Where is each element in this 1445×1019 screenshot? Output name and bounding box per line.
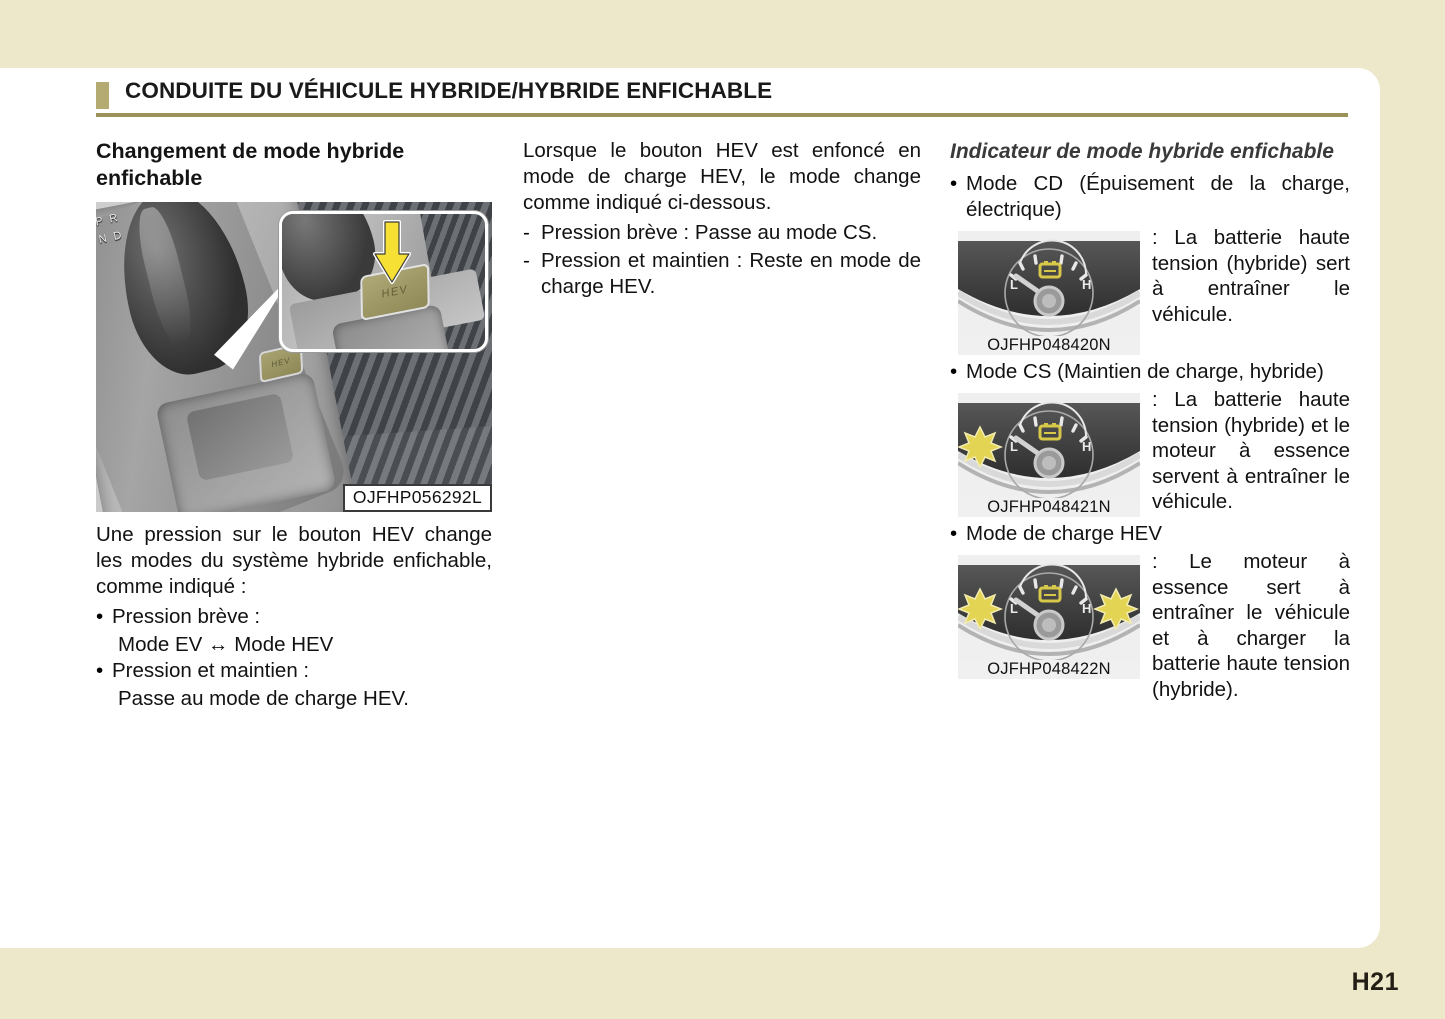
header-divider (96, 113, 1348, 117)
bullet-dot-icon: • (950, 171, 966, 197)
middle-item-2: - Pression et maintien : Reste en mode d… (523, 248, 921, 300)
hybrid-gauge-icon: L H (958, 555, 1140, 663)
mode-cs-label: Mode CS (Maintien de charge, hybride) (966, 359, 1350, 385)
mode-cd-label-row: • Mode CD (Épuisement de la charge, élec… (950, 171, 1350, 223)
svg-text:H: H (1082, 277, 1091, 292)
left-bullet-1-label: Pression brève : (112, 604, 492, 630)
mode-hev-label: Mode de charge HEV (966, 521, 1350, 547)
page-title: CONDUITE DU VÉHICULE HYBRIDE/HYBRIDE ENF… (125, 78, 772, 104)
gauge-figure-cd: L H OJFHP048420N (958, 231, 1140, 355)
burst-indicator-left (959, 589, 1001, 629)
left-section-heading: Changement de mode hybride enfichable (96, 138, 492, 192)
left-bullet-2-detail: Passe au mode de charge HEV. (118, 686, 492, 712)
figure-caption: OJFHP056292L (343, 484, 492, 512)
mode-block-cd: • Mode CD (Épuisement de la charge, élec… (950, 171, 1350, 357)
hybrid-gauge-icon: L H (958, 231, 1140, 339)
left-bullet-1-detail: Mode EV ↔ Mode HEV (118, 632, 492, 658)
bullet-dot-icon: • (950, 359, 966, 385)
right-column: Indicateur de mode hybride enfichable • … (950, 138, 1350, 704)
mode-block-cs: • Mode CS (Maintien de charge, hybride) (950, 359, 1350, 519)
gauge-figure-hev: L H (958, 555, 1140, 679)
left-intro-text: Une pression sur le bouton HEV change le… (96, 522, 492, 600)
middle-column: Lorsque le bouton HEV est enfoncé en mod… (523, 138, 921, 302)
burst-indicator-right (1095, 589, 1137, 629)
mode-block-hev-charge: • Mode de charge HEV (950, 521, 1350, 702)
gauge-figure-cs: L H OJFHP048421N (958, 393, 1140, 517)
dash-bullet-icon: - (523, 220, 541, 246)
bullet-dot-icon: • (950, 521, 966, 547)
gauge-caption-cs: OJFHP048421N (958, 498, 1140, 517)
left-column: Changement de mode hybride enfichable P … (96, 138, 492, 712)
middle-item-1: - Pression brève : Passe au mode CS. (523, 220, 921, 246)
bullet-dot-icon: • (96, 604, 112, 630)
svg-text:H: H (1082, 601, 1091, 616)
hybrid-gauge-icon: L H (958, 393, 1140, 501)
left-bullet-2-label: Pression et maintien : (112, 658, 492, 684)
mode-hev-label-row: • Mode de charge HEV (950, 521, 1350, 547)
right-section-heading: Indicateur de mode hybride enfichable (950, 138, 1350, 165)
console-zoom-inset: HEV (279, 211, 488, 352)
chapter-header: CONDUITE DU VÉHICULE HYBRIDE/HYBRIDE ENF… (96, 78, 1348, 118)
burst-indicator-left (959, 427, 1001, 467)
dash-bullet-icon: - (523, 248, 541, 274)
left-bullet-1: • Pression brève : (96, 604, 492, 630)
page-number: H21 (1352, 968, 1399, 997)
center-console-figure: P R N D HEV HEV OJFHP056292L (96, 202, 492, 512)
middle-intro-text: Lorsque le bouton HEV est enfoncé en mod… (523, 138, 921, 216)
middle-item-1-text: Pression brève : Passe au mode CS. (541, 220, 921, 246)
mode-cs-label-row: • Mode CS (Maintien de charge, hybride) (950, 359, 1350, 385)
svg-text:H: H (1082, 439, 1091, 454)
bullet-dot-icon: • (96, 658, 112, 684)
left-bullet-2: • Pression et maintien : (96, 658, 492, 684)
gauge-caption-hev: OJFHP048422N (958, 660, 1140, 679)
down-arrow-icon (372, 220, 412, 286)
gauge-caption-cd: OJFHP048420N (958, 336, 1140, 355)
chapter-marker-icon (96, 82, 109, 109)
mode-cd-label: Mode CD (Épuisement de la charge, électr… (966, 171, 1350, 223)
middle-item-2-text: Pression et maintien : Reste en mode de … (541, 248, 921, 300)
